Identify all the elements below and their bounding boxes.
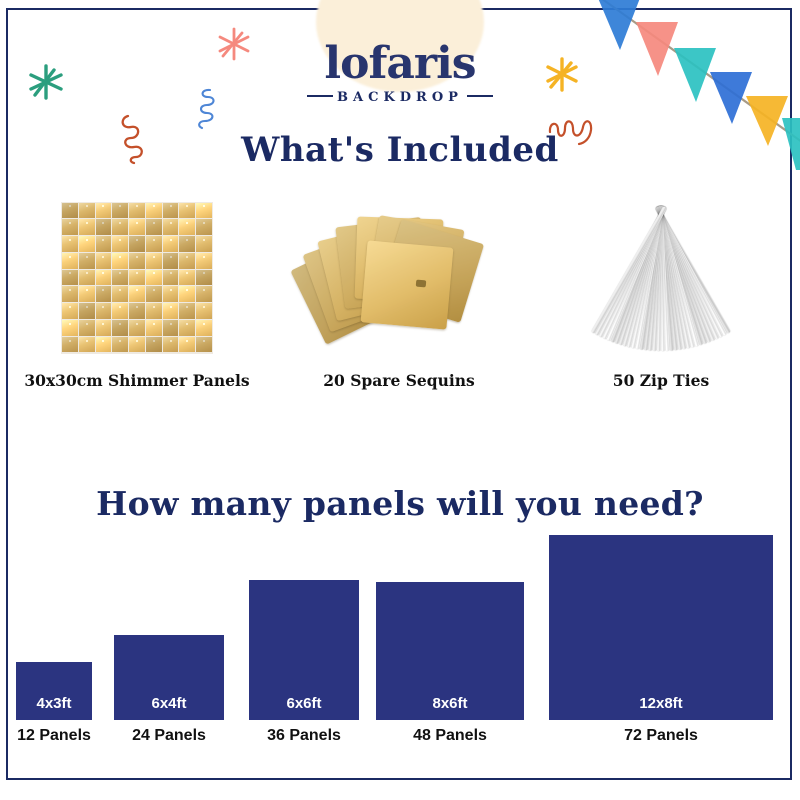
- product-caption: 50 Zip Ties: [613, 371, 709, 390]
- shimmer-sequin: [163, 303, 179, 319]
- shimmer-sequin: [79, 203, 95, 219]
- shimmer-sequin: [163, 203, 179, 219]
- brand-tagline-text: BACKDROP: [337, 90, 463, 105]
- shimmer-sequin: [163, 286, 179, 302]
- shimmer-sequin: [79, 320, 95, 336]
- gold-sequin-tile: [361, 240, 454, 329]
- shimmer-sequin: [146, 253, 162, 269]
- size-chart-column[interactable]: 6x6ft36 Panels: [249, 580, 359, 745]
- product-zip-ties: 50 Zip Ties: [530, 190, 792, 420]
- shimmer-sequin: [62, 303, 78, 319]
- shimmer-sequin: [196, 236, 212, 252]
- shimmer-sequin: [62, 337, 78, 353]
- brand-tagline: BACKDROP: [0, 90, 800, 105]
- shimmer-sequin: [196, 203, 212, 219]
- shimmer-sequin: [146, 286, 162, 302]
- size-bar[interactable]: 8x6ft: [376, 582, 524, 720]
- white-zip-tie-bundle: [581, 198, 741, 358]
- shimmer-sequin: [196, 219, 212, 235]
- shimmer-sequin: [196, 320, 212, 336]
- shimmer-sequin: [179, 203, 195, 219]
- shimmer-sequin: [96, 253, 112, 269]
- shimmer-sequin: [112, 203, 128, 219]
- shimmer-sequin: [146, 270, 162, 286]
- shimmer-sequin: [179, 286, 195, 302]
- shimmer-sequin: [112, 303, 128, 319]
- size-chart-column[interactable]: 12x8ft72 Panels: [549, 535, 773, 745]
- brand-name: lofaris: [0, 42, 800, 86]
- shimmer-sequin: [129, 270, 145, 286]
- shimmer-sequin: [112, 337, 128, 353]
- shimmer-sequin: [112, 320, 128, 336]
- heading-whats-included: What's Included: [0, 130, 800, 170]
- shimmer-sequin: [179, 303, 195, 319]
- shimmer-sequin: [179, 320, 195, 336]
- product-shimmer-panels: 30x30cm Shimmer Panels: [6, 190, 268, 420]
- shimmer-sequin: [96, 270, 112, 286]
- included-products-row: 30x30cm Shimmer Panels 20 Spare Sequins …: [6, 190, 792, 420]
- shimmer-sequin: [129, 253, 145, 269]
- shimmer-sequin: [62, 236, 78, 252]
- shimmer-sequin: [129, 303, 145, 319]
- shimmer-sequin: [179, 219, 195, 235]
- gold-sequin-stack: [304, 218, 494, 338]
- shimmer-panel-grid-image: [61, 190, 213, 365]
- shimmer-sequin: [163, 219, 179, 235]
- shimmer-sequin: [129, 236, 145, 252]
- shimmer-sequin: [79, 270, 95, 286]
- size-chart-column[interactable]: 4x3ft12 Panels: [16, 662, 92, 745]
- shimmer-sequin: [179, 270, 195, 286]
- size-bar-panel-count: 12 Panels: [17, 727, 91, 745]
- panel-size-chart: 4x3ft12 Panels6x4ft24 Panels6x6ft36 Pane…: [6, 530, 792, 745]
- shimmer-sequin: [163, 270, 179, 286]
- shimmer-sequin: [146, 236, 162, 252]
- size-bar-panel-count: 36 Panels: [267, 727, 341, 745]
- shimmer-sequin: [163, 320, 179, 336]
- shimmer-sequin: [112, 236, 128, 252]
- shimmer-sequin: [96, 320, 112, 336]
- shimmer-sequin: [112, 270, 128, 286]
- size-bar-panel-count: 48 Panels: [413, 727, 487, 745]
- shimmer-sequin: [196, 286, 212, 302]
- shimmer-sequin: [146, 203, 162, 219]
- shimmer-sequin: [129, 219, 145, 235]
- size-chart-column[interactable]: 8x6ft48 Panels: [376, 582, 524, 745]
- size-bar-panel-count: 24 Panels: [132, 727, 206, 745]
- shimmer-sequin: [112, 286, 128, 302]
- gold-sequin-stack-image: [304, 190, 494, 365]
- shimmer-sequin: [196, 337, 212, 353]
- shimmer-sequin: [62, 253, 78, 269]
- shimmer-sequin: [79, 253, 95, 269]
- shimmer-sequin: [79, 303, 95, 319]
- shimmer-sequin: [96, 337, 112, 353]
- size-bar-panel-count: 72 Panels: [624, 727, 698, 745]
- shimmer-sequin: [62, 270, 78, 286]
- zip-tie-bundle-image: [581, 190, 741, 365]
- shimmer-sequin: [96, 303, 112, 319]
- size-bar-label: 6x6ft: [286, 695, 321, 720]
- shimmer-sequin: [79, 219, 95, 235]
- brand-logo: lofaris BACKDROP: [0, 42, 800, 105]
- shimmer-sequin: [146, 303, 162, 319]
- product-caption: 20 Spare Sequins: [323, 371, 475, 390]
- rule-left: [307, 95, 333, 97]
- sequin-mounting-hole: [416, 279, 427, 287]
- size-bar[interactable]: 6x6ft: [249, 580, 359, 720]
- shimmer-sequin: [179, 253, 195, 269]
- size-bar[interactable]: 4x3ft: [16, 662, 92, 720]
- shimmer-sequin: [62, 320, 78, 336]
- shimmer-sequin: [62, 286, 78, 302]
- shimmer-sequin: [163, 253, 179, 269]
- shimmer-sequin: [112, 219, 128, 235]
- shimmer-sequin: [129, 203, 145, 219]
- shimmer-sequin: [96, 236, 112, 252]
- shimmer-sequin: [163, 236, 179, 252]
- product-caption: 30x30cm Shimmer Panels: [24, 371, 249, 390]
- shimmer-sequin: [62, 219, 78, 235]
- shimmer-panel-grid: [61, 202, 213, 354]
- shimmer-sequin: [112, 253, 128, 269]
- shimmer-sequin: [146, 219, 162, 235]
- shimmer-sequin: [146, 337, 162, 353]
- size-bar-label: 4x3ft: [36, 695, 71, 720]
- shimmer-sequin: [179, 337, 195, 353]
- shimmer-sequin: [146, 320, 162, 336]
- size-bar[interactable]: 12x8ft: [549, 535, 773, 720]
- shimmer-sequin: [79, 236, 95, 252]
- product-spare-sequins: 20 Spare Sequins: [268, 190, 530, 420]
- size-chart-column[interactable]: 6x4ft24 Panels: [114, 635, 224, 745]
- rule-right: [467, 95, 493, 97]
- heading-how-many-panels: How many panels will you need?: [0, 484, 800, 523]
- shimmer-sequin: [196, 303, 212, 319]
- infographic-page: lofaris BACKDROP What's Included 30x30cm…: [0, 0, 800, 800]
- shimmer-sequin: [129, 337, 145, 353]
- shimmer-sequin: [96, 219, 112, 235]
- shimmer-sequin: [179, 236, 195, 252]
- size-bar-label: 6x4ft: [151, 695, 186, 720]
- shimmer-sequin: [79, 286, 95, 302]
- shimmer-sequin: [96, 286, 112, 302]
- shimmer-sequin: [62, 203, 78, 219]
- shimmer-sequin: [163, 337, 179, 353]
- size-bar-label: 12x8ft: [639, 695, 682, 720]
- size-bar-label: 8x6ft: [432, 695, 467, 720]
- shimmer-sequin: [79, 337, 95, 353]
- shimmer-sequin: [196, 253, 212, 269]
- shimmer-sequin: [96, 203, 112, 219]
- shimmer-sequin: [129, 320, 145, 336]
- shimmer-sequin: [196, 270, 212, 286]
- shimmer-sequin: [129, 286, 145, 302]
- size-bar[interactable]: 6x4ft: [114, 635, 224, 720]
